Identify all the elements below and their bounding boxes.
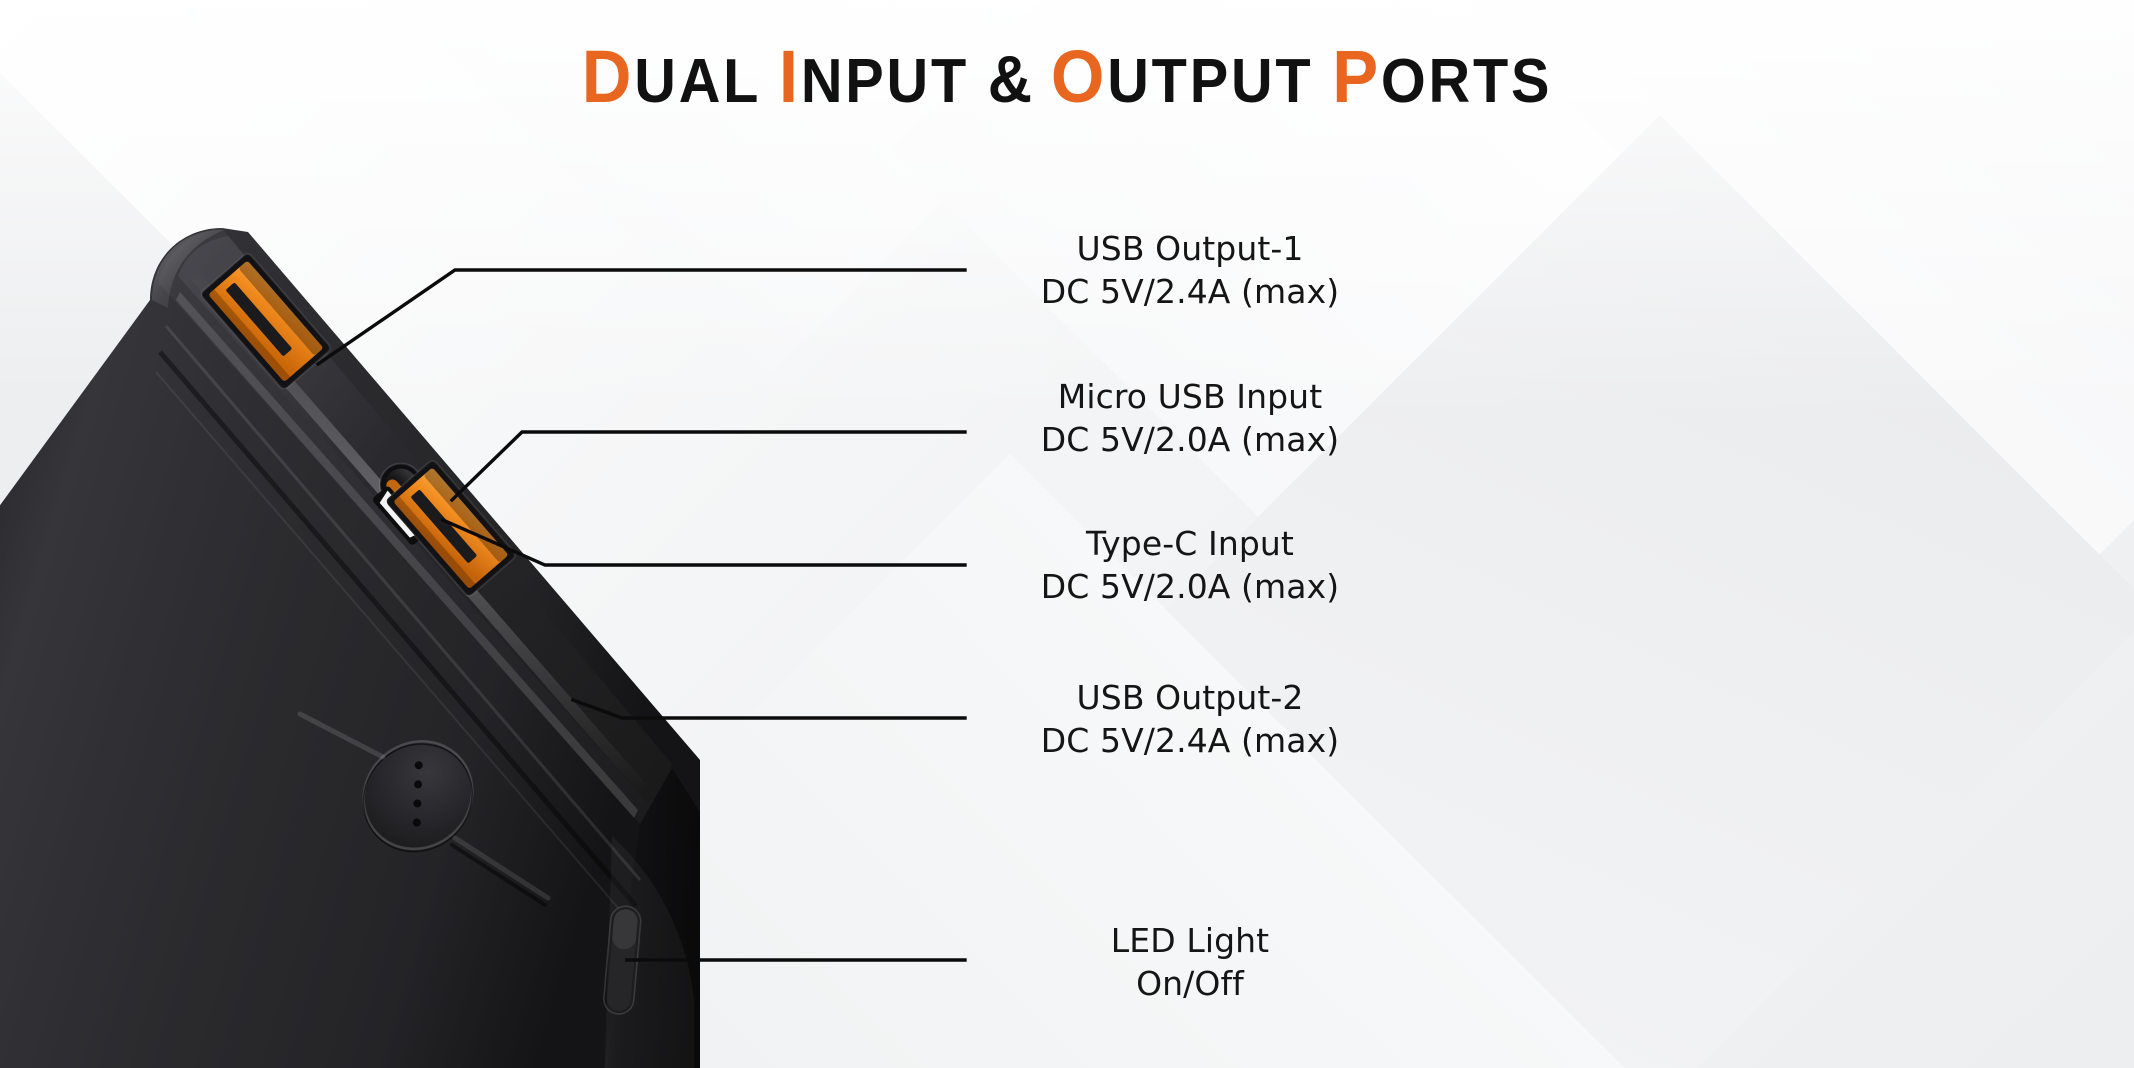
label-usb-output-1-title: USB Output-1 (980, 228, 1400, 271)
label-led-light-spec: On/Off (980, 963, 1400, 1006)
title-rest-nput: NPUT (801, 47, 969, 116)
label-usb-output-2-spec: DC 5V/2.4A (max) (980, 720, 1400, 763)
label-led-light-title: LED Light (980, 920, 1400, 963)
title-cap-o: O (1051, 35, 1107, 118)
title-rest-orts: ORTS (1381, 47, 1552, 116)
label-usb-output-1: USB Output-1 DC 5V/2.4A (max) (980, 228, 1400, 314)
label-type-c-input-title: Type-C Input (980, 523, 1400, 566)
title-cap-p: P (1332, 35, 1381, 118)
title-ampersand: & (988, 42, 1032, 116)
label-type-c-input: Type-C Input DC 5V/2.0A (max) (980, 523, 1400, 609)
title-rest-ual: UAL (634, 47, 760, 116)
label-usb-output-1-spec: DC 5V/2.4A (max) (980, 271, 1400, 314)
label-micro-usb-input-title: Micro USB Input (980, 376, 1400, 419)
label-micro-usb-input: Micro USB Input DC 5V/2.0A (max) (980, 376, 1400, 462)
title-cap-d: D (582, 35, 635, 118)
infographic-canvas: DUAL INPUT & OUTPUT PORTS (0, 0, 2134, 1068)
label-micro-usb-input-spec: DC 5V/2.0A (max) (980, 419, 1400, 462)
label-usb-output-2-title: USB Output-2 (980, 677, 1400, 720)
label-led-light: LED Light On/Off (980, 920, 1400, 1006)
title-rest-utput: UTPUT (1107, 47, 1313, 116)
page-title: DUAL INPUT & OUTPUT PORTS (75, 34, 2060, 119)
label-type-c-input-spec: DC 5V/2.0A (max) (980, 566, 1400, 609)
title-cap-i: I (779, 35, 801, 118)
label-usb-output-2: USB Output-2 DC 5V/2.4A (max) (980, 677, 1400, 763)
